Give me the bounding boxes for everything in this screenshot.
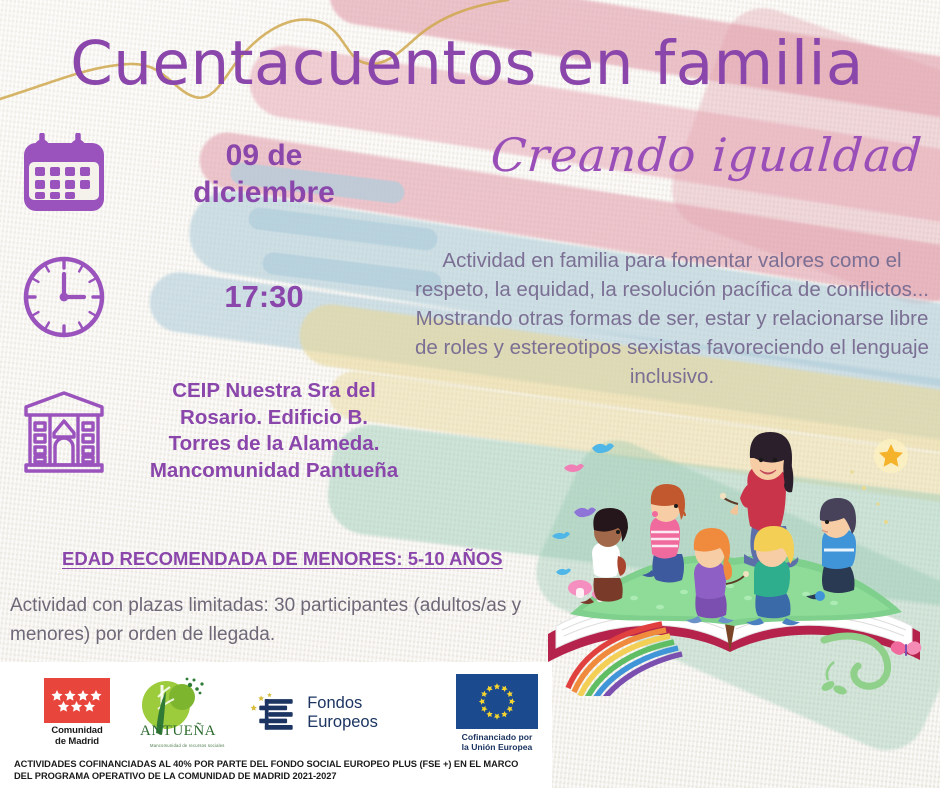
poster-subtitle: Creando igualdad bbox=[489, 128, 924, 182]
fineprint-line2: DEL PROGRAMA OPERATIVO DE LA COMUNIDAD D… bbox=[14, 770, 544, 783]
event-time: 17:30 bbox=[114, 278, 414, 316]
eu-flag-icon bbox=[456, 674, 538, 729]
capacity-note: Actividad con plazas limitadas: 30 parti… bbox=[10, 592, 540, 649]
eu-label-line1: Cofinanciado por bbox=[462, 732, 533, 742]
event-date-line1: 09 de bbox=[114, 138, 414, 175]
page-title: Cuentacuentos en familia bbox=[0, 28, 934, 99]
logo-row: Comunidad de Madrid bbox=[0, 672, 552, 754]
comunidad-de-madrid-logo: Comunidad de Madrid bbox=[44, 678, 110, 748]
madrid-flag-icon bbox=[44, 678, 110, 723]
footer-fineprint: ACTIVIDADES COFINANCIADAS AL 40% POR PAR… bbox=[0, 754, 552, 788]
info-row-date: 09 de diciembre bbox=[14, 133, 424, 217]
event-venue-line3: Torres de la Alameda. bbox=[114, 431, 434, 458]
event-venue-line1: CEIP Nuestra Sra del bbox=[114, 378, 434, 405]
event-date-line2: diciembre bbox=[114, 175, 414, 212]
fineprint-line1: ACTIVIDADES COFINANCIADAS AL 40% POR PAR… bbox=[14, 758, 544, 771]
pantuena-wordmark: ANTUEÑA bbox=[140, 723, 216, 740]
madrid-label-line2: de Madrid bbox=[51, 737, 102, 748]
event-venue-line4: Mancomunidad Pantueña bbox=[114, 458, 434, 485]
pantuena-tagline: Mancomunidad de recursos sociales bbox=[150, 743, 225, 748]
calendar-icon bbox=[14, 133, 114, 217]
fondos-europeos-icon bbox=[250, 690, 298, 736]
activity-description: Actividad en familia para fomentar valor… bbox=[408, 246, 936, 392]
eu-logo-label: Cofinanciado por la Unión Europea bbox=[462, 732, 533, 753]
pantuena-logo: ANTUEÑA Mancomunidad de recursos sociale… bbox=[132, 677, 224, 749]
clock-icon bbox=[14, 253, 114, 341]
madrid-logo-label: Comunidad de Madrid bbox=[51, 726, 102, 748]
eu-flag-logo: Cofinanciado por la Unión Europea bbox=[456, 674, 538, 753]
fondos-europeos-label: Fondos Europeos bbox=[307, 694, 428, 732]
poster-canvas: Cuentacuentos en familia Creando igualda… bbox=[0, 0, 940, 788]
building-icon bbox=[14, 385, 114, 477]
fondos-europeos-logo: Fondos Europeos bbox=[250, 690, 428, 736]
event-date: 09 de diciembre bbox=[114, 138, 414, 211]
info-row-place: CEIP Nuestra Sra del Rosario. Edificio B… bbox=[14, 378, 444, 485]
event-venue: CEIP Nuestra Sra del Rosario. Edificio B… bbox=[114, 378, 434, 485]
event-venue-line2: Rosario. Edificio B. bbox=[114, 405, 434, 432]
info-row-time: 17:30 bbox=[14, 253, 424, 341]
eu-label-line2: la Unión Europea bbox=[462, 742, 533, 752]
age-recommendation: EDAD RECOMENDADA DE MENORES: 5-10 AÑOS bbox=[62, 548, 503, 570]
footer-logos-bar: Comunidad de Madrid bbox=[0, 662, 552, 788]
